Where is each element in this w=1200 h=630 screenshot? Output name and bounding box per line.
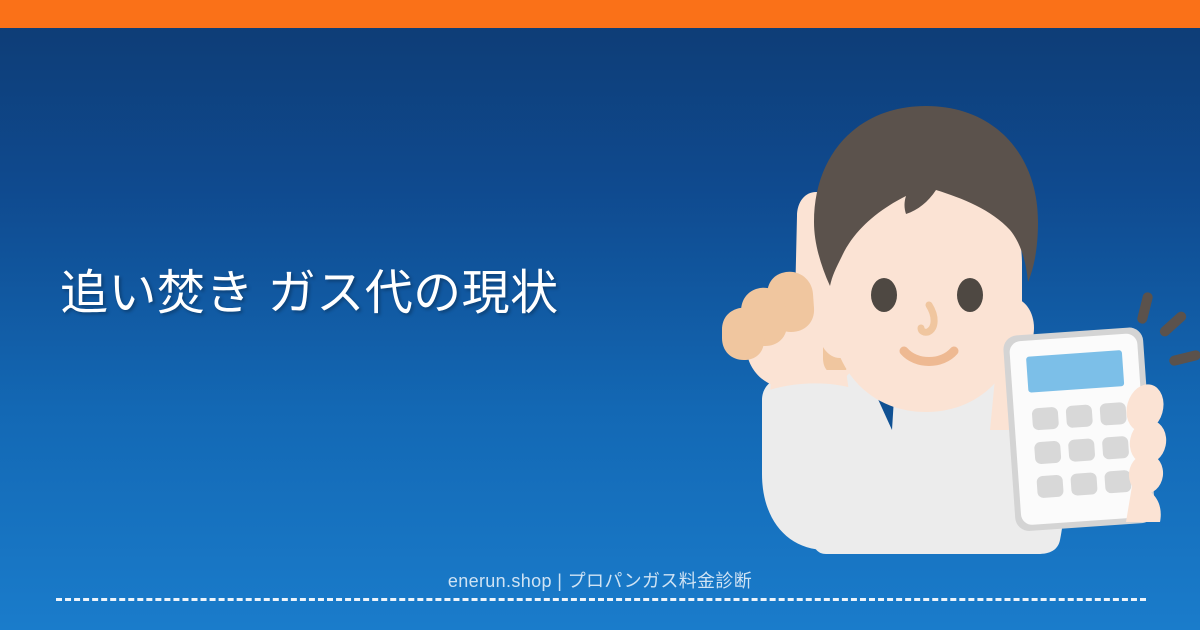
emphasis-marks [1136, 291, 1200, 366]
top-accent-bar [0, 0, 1200, 28]
illustration-man-with-calculator [640, 70, 1200, 630]
emphasis-mark-1 [1136, 291, 1153, 324]
footer-divider [56, 598, 1146, 601]
footer: enerun.shop | プロパンガス料金診断 [0, 568, 1200, 594]
emphasis-mark-2 [1158, 310, 1188, 339]
eye-right [957, 278, 983, 312]
page-title: 追い焚き ガス代の現状 [60, 262, 660, 327]
calculator-screen [1026, 350, 1124, 393]
head [814, 106, 1038, 412]
footer-brand-text: enerun.shop | プロパンガス料金診断 [448, 568, 752, 594]
emphasis-mark-3 [1168, 349, 1200, 366]
ogp-card: 追い焚き ガス代の現状 [0, 0, 1200, 630]
eye-left [871, 278, 897, 312]
calculator-keys [1032, 402, 1132, 498]
